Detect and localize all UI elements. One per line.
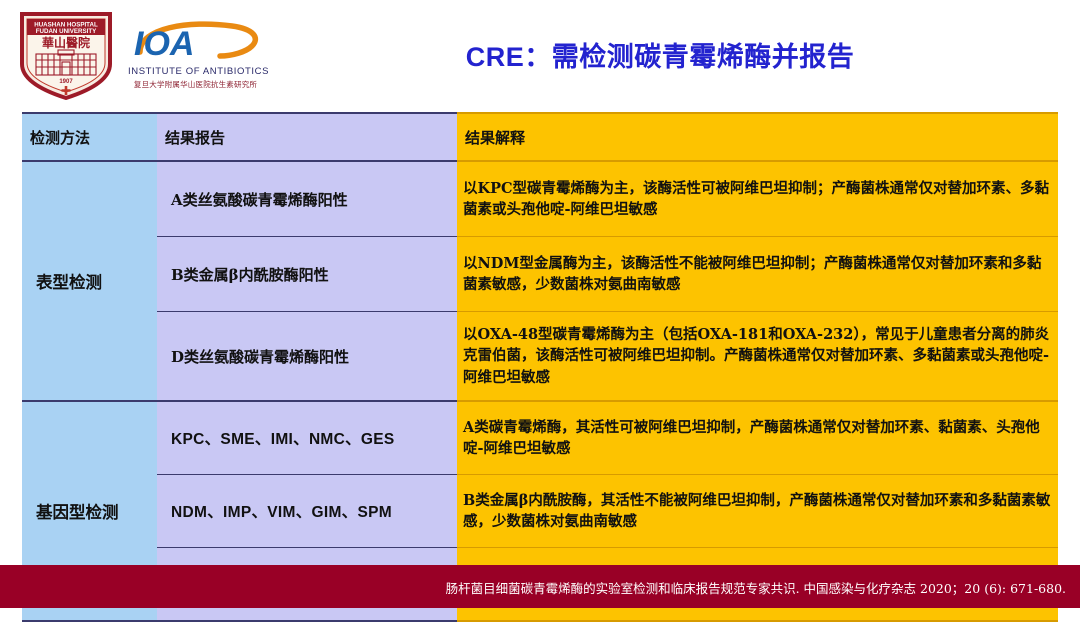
column-header-interpretation: 结果解释 — [457, 113, 1058, 161]
slide-header: HUASHAN HOSPITAL FUDAN UNIVERSITY 華山醫院 1… — [0, 0, 1080, 108]
svg-text:1907: 1907 — [59, 79, 73, 85]
svg-text:華山醫院: 華山醫院 — [42, 35, 90, 50]
report-value: NDM、IMP、VIM、GIM、SPM — [157, 475, 457, 548]
column-header-method: 检测方法 — [22, 113, 157, 161]
report-value: D类丝氨酸碳青霉烯酶阳性 — [157, 312, 457, 402]
svg-text:IOA: IOA — [134, 25, 194, 63]
table-header-row: 检测方法 结果报告 结果解释 — [22, 113, 1058, 161]
interpretation-value: 以KPC型碳青霉烯酶为主，该酶活性可被阿维巴坦抑制；产酶菌株通常仅对替加环素、多… — [457, 161, 1058, 237]
interpretation-value: A类碳青霉烯酶，其活性可被阿维巴坦抑制，产酶菌株通常仅对替加环素、黏菌素、头孢他… — [457, 401, 1058, 475]
carbapenemase-detection-table: 检测方法 结果报告 结果解释 表型检测 A类丝氨酸碳青霉烯酶阳性 以KPC型碳青… — [22, 112, 1058, 622]
ioa-chinese-name: 复旦大学附属华山医院抗生素研究所 — [128, 79, 263, 90]
citation-text: 肠杆菌目细菌碳青霉烯酶的实验室检测和临床报告规范专家共识. 中国感染与化疗杂志 … — [446, 578, 1066, 597]
report-value: KPC、SME、IMI、NMC、GES — [157, 401, 457, 475]
interpretation-value: 以OXA-48型碳青霉烯酶为主（包括OXA-181和OXA-232），常见于儿童… — [457, 312, 1058, 402]
ioa-mark-icon: IOA — [128, 18, 263, 66]
column-header-report: 结果报告 — [157, 113, 457, 161]
interpretation-value: 以NDM型金属酶为主，该酶活性不能被阿维巴坦抑制；产酶菌株通常仅对替加环素和多黏… — [457, 237, 1058, 312]
table-row: 基因型检测 KPC、SME、IMI、NMC、GES A类碳青霉烯酶，其活性可被阿… — [22, 401, 1058, 475]
method-group-phenotype: 表型检测 — [22, 161, 157, 401]
table-row: 表型检测 A类丝氨酸碳青霉烯酶阳性 以KPC型碳青霉烯酶为主，该酶活性可被阿维巴… — [22, 161, 1058, 237]
page-title: CRE：需检测碳青霉烯酶并报告 — [300, 35, 1020, 74]
report-value: B类金属β内酰胺酶阳性 — [157, 237, 457, 312]
footer-bar: 肠杆菌目细菌碳青霉烯酶的实验室检测和临床报告规范专家共识. 中国感染与化疗杂志 … — [0, 565, 1080, 608]
table-row: B类金属β内酰胺酶阳性 以NDM型金属酶为主，该酶活性不能被阿维巴坦抑制；产酶菌… — [22, 237, 1058, 312]
interpretation-value: B类金属β内酰胺酶，其活性不能被阿维巴坦抑制，产酶菌株通常仅对替加环素和多黏菌素… — [457, 475, 1058, 548]
shield-icon: HUASHAN HOSPITAL FUDAN UNIVERSITY 華山醫院 1… — [18, 10, 114, 100]
svg-text:FUDAN UNIVERSITY: FUDAN UNIVERSITY — [36, 28, 97, 35]
report-value: A类丝氨酸碳青霉烯酶阳性 — [157, 161, 457, 237]
table-row: D类丝氨酸碳青霉烯酶阳性 以OXA-48型碳青霉烯酶为主（包括OXA-181和O… — [22, 312, 1058, 402]
ioa-logo: IOA INSTITUTE OF ANTIBIOTICS 复旦大学附属华山医院抗… — [128, 18, 263, 94]
table-row: NDM、IMP、VIM、GIM、SPM B类金属β内酰胺酶，其活性不能被阿维巴坦… — [22, 475, 1058, 548]
huashan-hospital-logo: HUASHAN HOSPITAL FUDAN UNIVERSITY 華山醫院 1… — [18, 10, 118, 102]
ioa-english-name: INSTITUTE OF ANTIBIOTICS — [128, 66, 263, 77]
